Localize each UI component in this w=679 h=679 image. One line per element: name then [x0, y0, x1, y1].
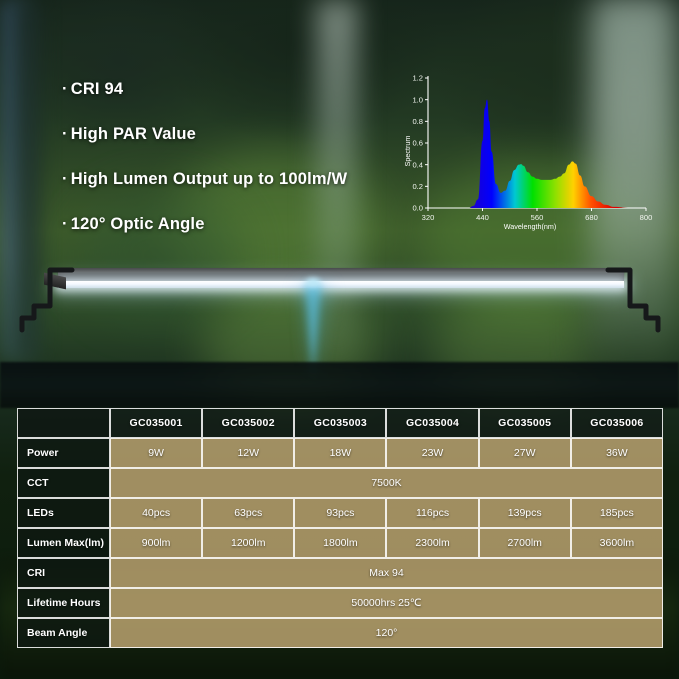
- table-merged-value: 7500K: [110, 468, 663, 498]
- chart-y-tick: 0.4: [412, 160, 423, 169]
- product-infographic: ·CRI 94 ·High PAR Value ·High Lumen Outp…: [0, 0, 679, 679]
- chart-y-tick: 0.6: [412, 139, 423, 148]
- table-cell: 12W: [202, 438, 294, 468]
- table-merged-value: 120°: [110, 618, 663, 648]
- table-row: LEDs40pcs63pcs93pcs116pcs139pcs185pcs: [17, 498, 663, 528]
- chart-x-axis-label: Wavelength(nm): [504, 222, 556, 231]
- table-merged-value: 50000hrs 25℃: [110, 588, 663, 618]
- table-cell: 9W: [110, 438, 202, 468]
- feature-item-2: ·High PAR Value: [62, 125, 422, 144]
- table-row: CCT7500K: [17, 468, 663, 498]
- chart-x-tick: 320: [422, 213, 435, 222]
- table-cell: 27W: [479, 438, 571, 468]
- table-cell: 2300lm: [386, 528, 478, 558]
- table-header-cell-model-3: GC035003: [294, 408, 386, 438]
- led-fixture: [0, 248, 679, 368]
- table-cell: 2700lm: [479, 528, 571, 558]
- table-row-label-leds: LEDs: [17, 498, 110, 528]
- table-cell: 1200lm: [202, 528, 294, 558]
- table-cell: 40pcs: [110, 498, 202, 528]
- chart-x-tick: 800: [640, 213, 653, 222]
- bullet-dot-icon: ·: [62, 215, 68, 233]
- chart-x-tick: 440: [476, 213, 489, 222]
- table-header-cell-model-5: GC035005: [479, 408, 571, 438]
- chart-x-tick: 680: [585, 213, 598, 222]
- table-row: Beam Angle120°: [17, 618, 663, 648]
- table-cell: 900lm: [110, 528, 202, 558]
- table-header-cell-model-6: GC035006: [571, 408, 663, 438]
- table-row: CRIMax 94: [17, 558, 663, 588]
- table-cell: 63pcs: [202, 498, 294, 528]
- table-row-label-cri: CRI: [17, 558, 110, 588]
- table-row-label-lifetime-hours: Lifetime Hours: [17, 588, 110, 618]
- table-row: Lumen Max(lm)900lm1200lm1800lm2300lm2700…: [17, 528, 663, 558]
- table-cell: 185pcs: [571, 498, 663, 528]
- table-cell: 139pcs: [479, 498, 571, 528]
- table-cell: 93pcs: [294, 498, 386, 528]
- bullet-dot-icon: ·: [62, 80, 68, 98]
- table-merged-value: Max 94: [110, 558, 663, 588]
- chart-x-tick: 560: [531, 213, 544, 222]
- spectrum-chart: 0.00.20.40.60.81.01.2320440560680800 Spe…: [400, 66, 652, 236]
- table-header-cell-model-1: GC035001: [110, 408, 202, 438]
- table-cell: 116pcs: [386, 498, 478, 528]
- mount-bracket-left: [16, 266, 76, 338]
- feature-item-4: ·120° Optic Angle: [62, 215, 422, 234]
- spectrum-curve: [469, 100, 646, 208]
- specification-table: GC035001GC035002GC035003GC035004GC035005…: [17, 408, 663, 648]
- table-cell: 1800lm: [294, 528, 386, 558]
- feature-text-1: CRI 94: [71, 80, 124, 98]
- chart-y-tick: 0.2: [412, 182, 423, 191]
- feature-text-2: High PAR Value: [71, 125, 196, 143]
- table-header-row: GC035001GC035002GC035003GC035004GC035005…: [17, 408, 663, 438]
- table-cell: 3600lm: [571, 528, 663, 558]
- table-cell: 23W: [386, 438, 478, 468]
- table-row-label-power: Power: [17, 438, 110, 468]
- table-row-label-cct: CCT: [17, 468, 110, 498]
- feature-item-3: ·High Lumen Output up to 100lm/W: [62, 170, 422, 189]
- fixture-light-strip: [58, 281, 624, 288]
- table-corner-cell: [17, 408, 110, 438]
- mount-bracket-right: [604, 266, 664, 338]
- chart-y-tick: 0.8: [412, 117, 423, 126]
- feature-text-4: 120° Optic Angle: [71, 215, 205, 233]
- fixture-housing: [58, 268, 624, 282]
- chart-y-tick: 1.2: [412, 74, 423, 83]
- table-row: Lifetime Hours50000hrs 25℃: [17, 588, 663, 618]
- table-cell: 36W: [571, 438, 663, 468]
- table-header-cell-model-4: GC035004: [386, 408, 478, 438]
- table-row-label-lumen-max-lm: Lumen Max(lm): [17, 528, 110, 558]
- chart-y-axis-label: Spectrum: [403, 136, 412, 167]
- spectrum-chart-svg: 0.00.20.40.60.81.01.2320440560680800 Spe…: [400, 66, 652, 236]
- light-beam-source: [306, 278, 320, 287]
- table-cell: 18W: [294, 438, 386, 468]
- table-row-label-beam-angle: Beam Angle: [17, 618, 110, 648]
- chart-y-tick: 0.0: [412, 204, 423, 213]
- bullet-dot-icon: ·: [62, 170, 68, 188]
- table-row: Power9W12W18W23W27W36W: [17, 438, 663, 468]
- feature-list: ·CRI 94 ·High PAR Value ·High Lumen Outp…: [62, 80, 422, 260]
- bullet-dot-icon: ·: [62, 125, 68, 143]
- table-header-cell-model-2: GC035002: [202, 408, 294, 438]
- feature-text-3: High Lumen Output up to 100lm/W: [71, 170, 348, 188]
- fixture-shadow-band: [0, 362, 679, 408]
- feature-item-1: ·CRI 94: [62, 80, 422, 99]
- chart-y-tick: 1.0: [412, 95, 423, 104]
